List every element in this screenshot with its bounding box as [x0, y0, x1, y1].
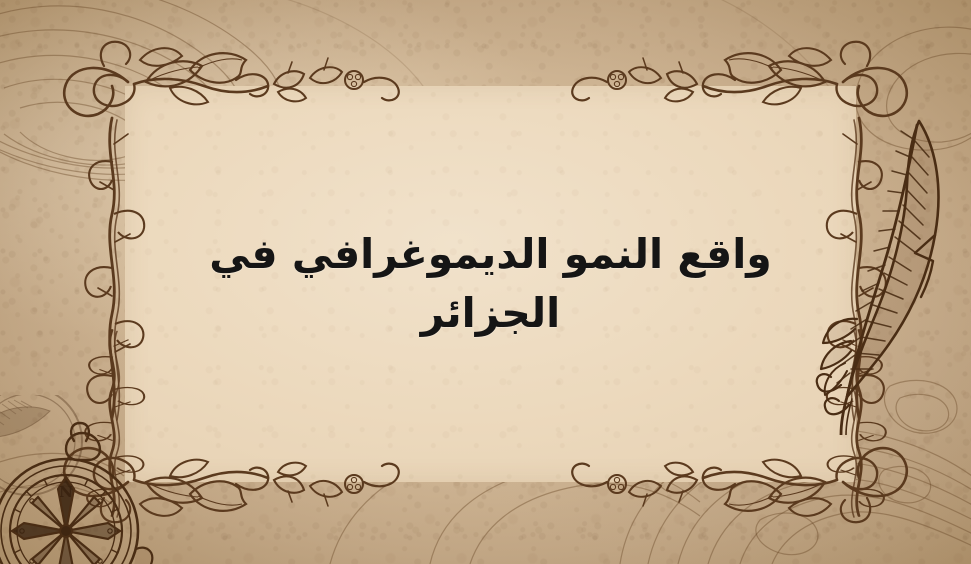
- title-line-2: الجزائر: [421, 289, 560, 337]
- title-line-1: واقع النمو الديموغرافي في: [209, 230, 772, 278]
- slide-title: واقع النمو الديموغرافي في الجزائر: [209, 225, 772, 344]
- presentation-slide: N واقع النمو الديموغرافي في الجزائر: [0, 0, 971, 564]
- title-container: واقع النمو الديموغرافي في الجزائر: [125, 86, 856, 482]
